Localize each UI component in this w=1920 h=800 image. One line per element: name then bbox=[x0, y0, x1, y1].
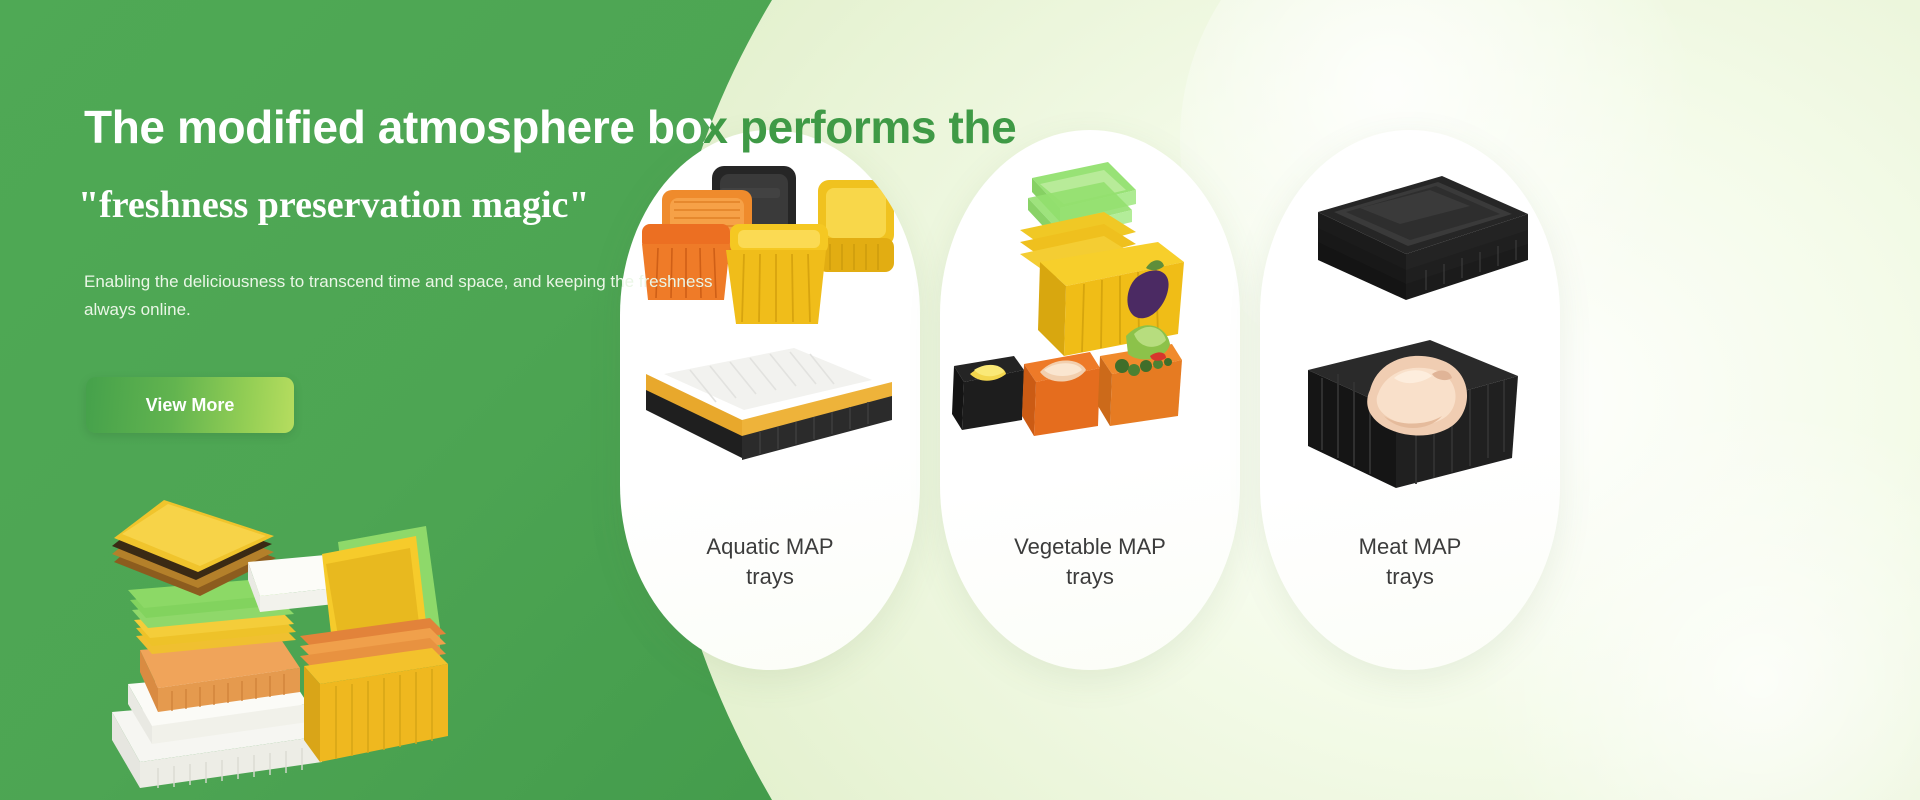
label-line-2: trays bbox=[1066, 564, 1114, 589]
label-line-2: trays bbox=[1386, 564, 1434, 589]
view-more-button[interactable]: View More bbox=[86, 377, 294, 433]
hero-description: Enabling the deliciousness to transcend … bbox=[84, 268, 724, 323]
hero-tray-stack-image bbox=[100, 500, 500, 800]
meat-trays-image bbox=[1260, 158, 1560, 528]
label-line-1: Vegetable MAP bbox=[1014, 534, 1166, 559]
label-line-1: Aquatic MAP bbox=[706, 534, 833, 559]
hero-banner: The modified atmosphere box performs the… bbox=[0, 0, 1920, 800]
page-subheadline: "freshness preservation magic" bbox=[78, 186, 590, 224]
product-card-meat[interactable]: Meat MAP trays bbox=[1260, 130, 1560, 670]
product-card-label: Aquatic MAP trays bbox=[620, 532, 920, 593]
product-card-label: Meat MAP trays bbox=[1260, 532, 1560, 593]
label-line-2: trays bbox=[746, 564, 794, 589]
label-line-1: Meat MAP bbox=[1359, 534, 1462, 559]
product-card-label: Vegetable MAP trays bbox=[940, 532, 1240, 593]
hero-copy-rest: "freshness preservation magic" Enabling … bbox=[84, 0, 1084, 520]
